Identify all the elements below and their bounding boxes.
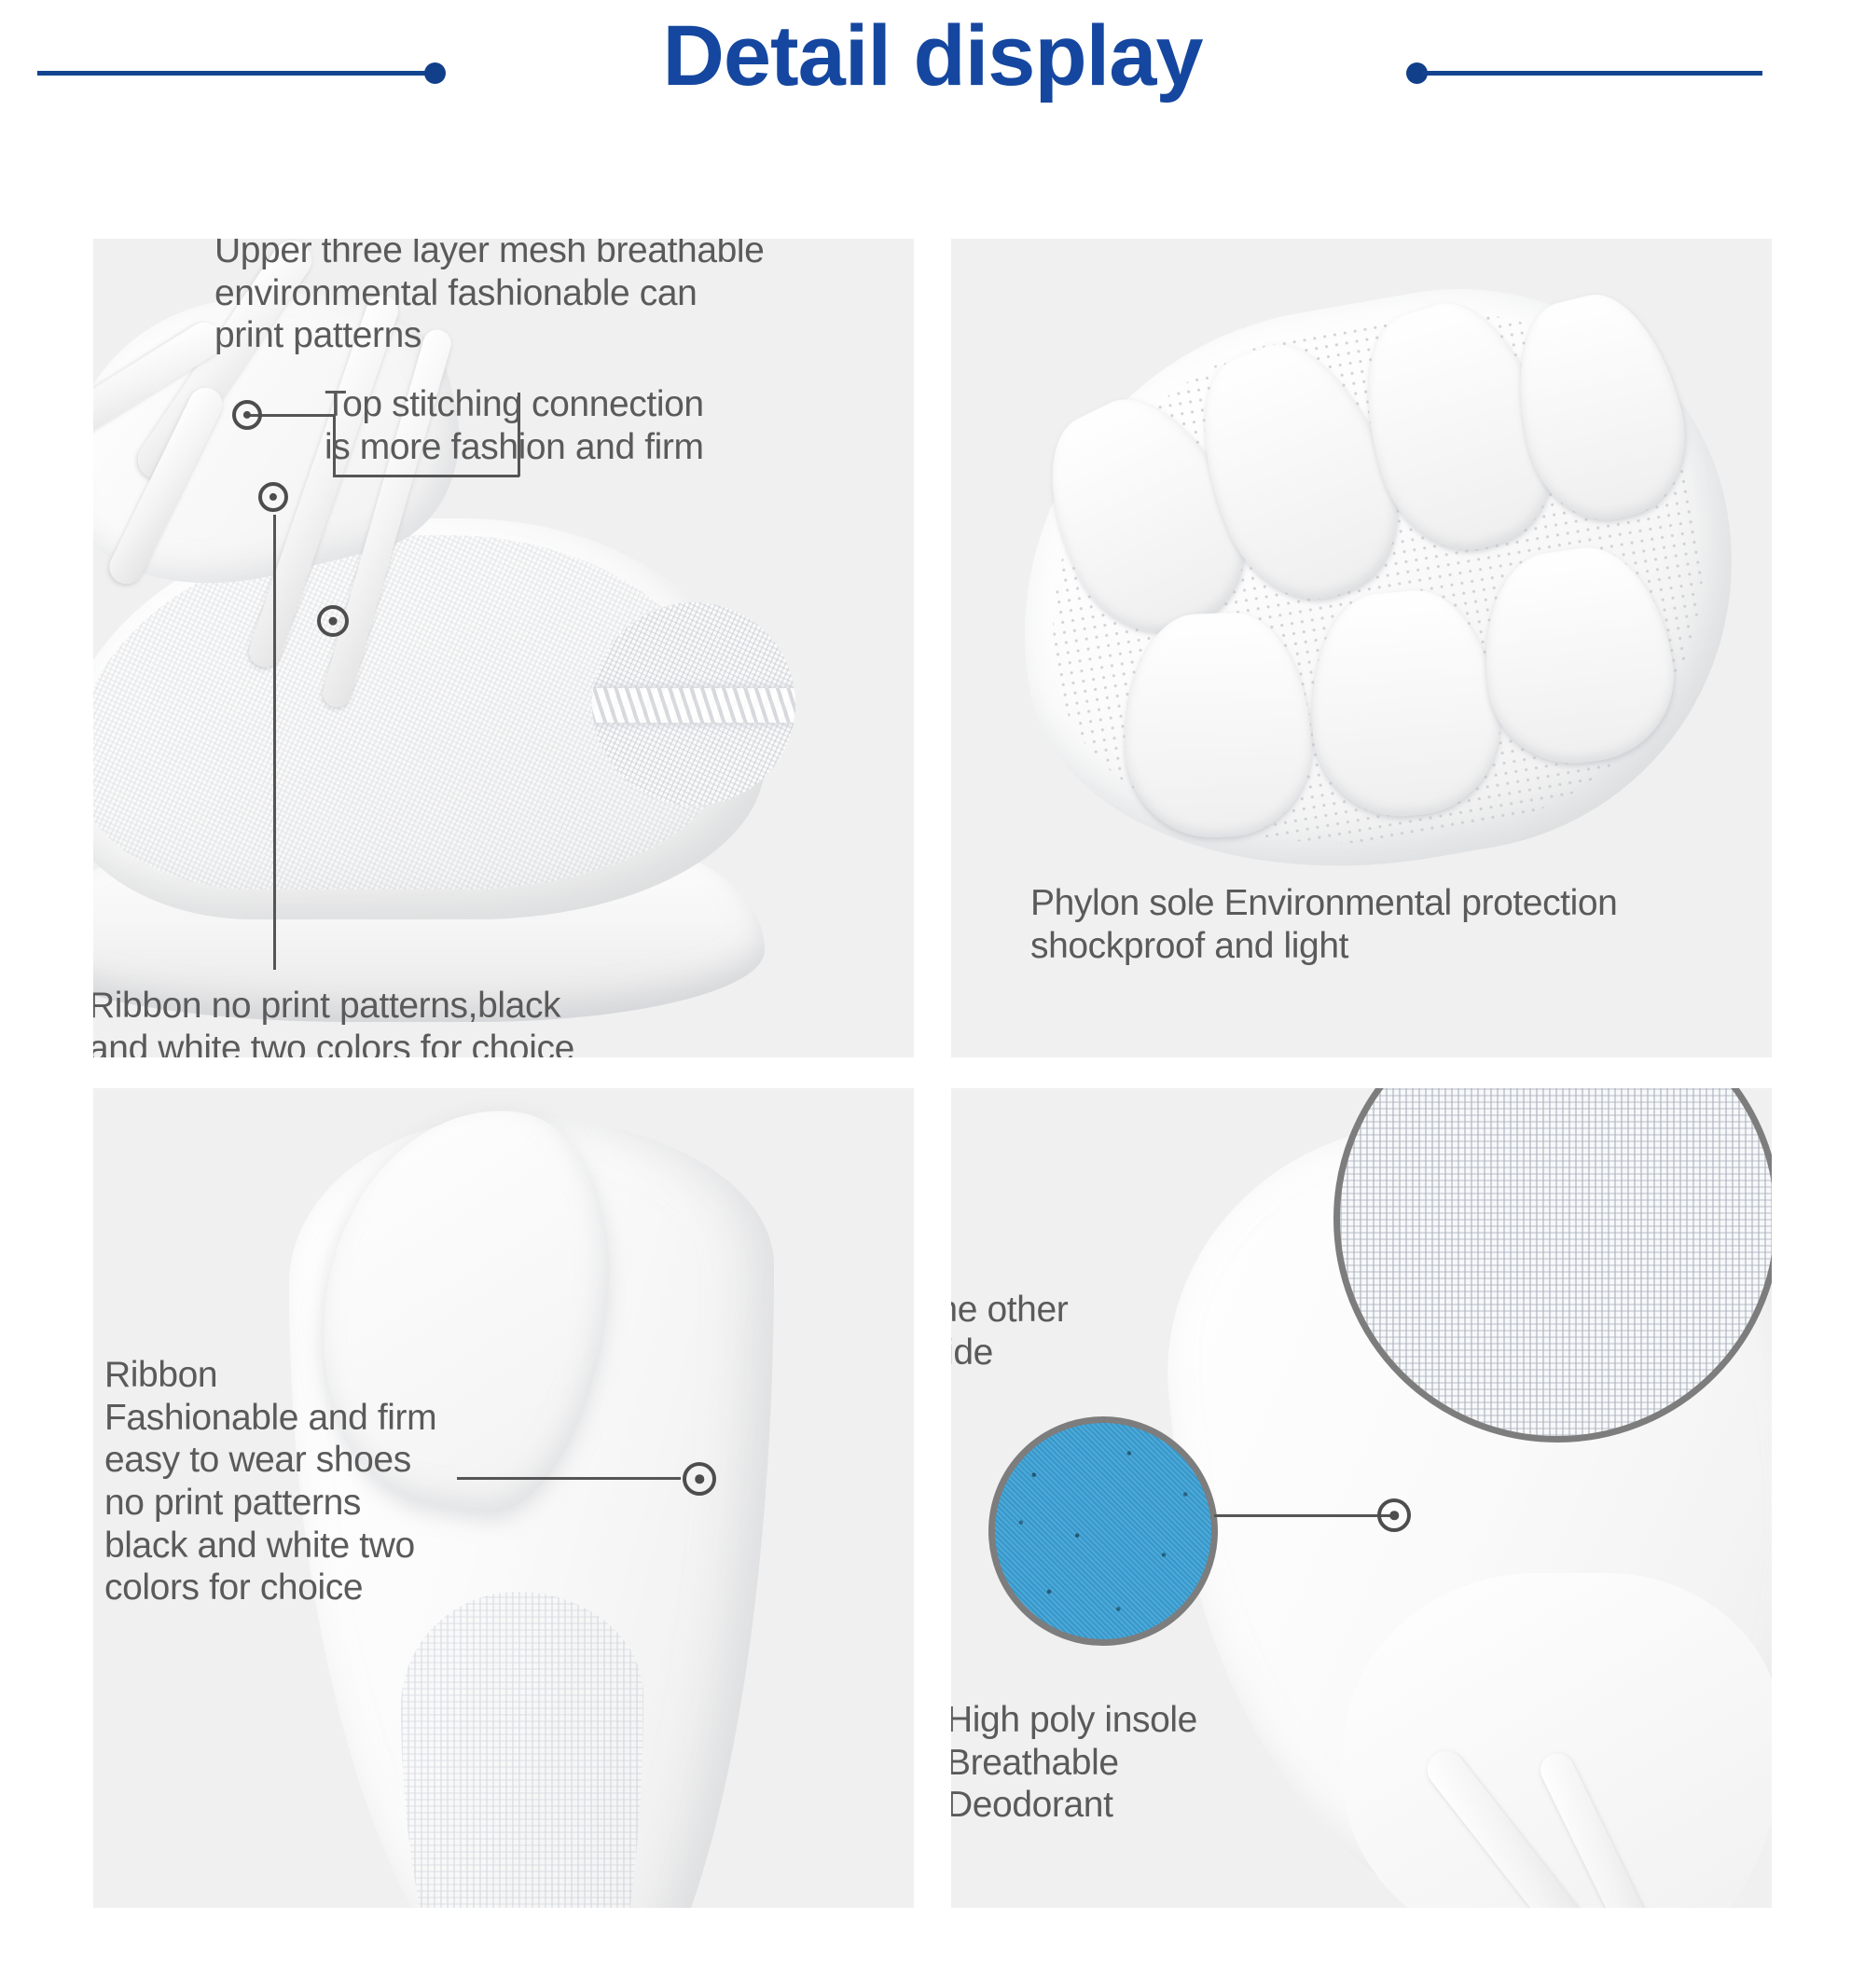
outsole-photo [974,246,1772,922]
stitching-closeup-inset [592,602,795,806]
leader-line-insole [1214,1514,1396,1517]
panel-phylon-sole: Phylon sole Environmental protection sho… [951,239,1772,1057]
phylon-sole-description: Phylon sole Environmental protection sho… [1030,882,1772,967]
page-header: Detail display [0,0,1865,149]
stitch-band [592,688,795,723]
other-side-label: the other side [951,1289,1208,1374]
callout-marker-ribbon[interactable] [683,1462,716,1496]
callout-marker-insole[interactable] [1377,1498,1411,1532]
page-title: Detail display [0,7,1865,106]
leader-line-stitching-h2 [333,475,519,477]
ribbon-colors-description: Ribbon no print patterns,black and white… [93,985,648,1057]
panel-ribbon-collar: Ribbon Fashionable and firm easy to wear… [93,1088,914,1908]
title-rule-right [1422,71,1762,76]
callout-marker-2[interactable] [258,482,288,512]
blue-foam-insole-inset [988,1416,1218,1646]
callout-marker-1[interactable] [232,400,262,430]
panel-insole: the other side High poly insole Breathab… [951,1088,1772,1908]
collar-knit-texture [401,1592,643,1908]
panel-upper-mesh: Upper three layer mesh breathable enviro… [93,239,914,1057]
upper-mesh-description: Upper three layer mesh breathable enviro… [214,239,811,357]
callout-marker-3[interactable] [317,605,349,637]
top-stitching-description: Top stitching connection is more fashion… [325,383,763,468]
leader-line-ribbon-v [273,515,276,970]
insole-description: High poly insole Breathable Deodorant [951,1699,1413,1827]
ribbon-description: Ribbon Fashionable and firm easy to wear… [104,1354,589,1609]
